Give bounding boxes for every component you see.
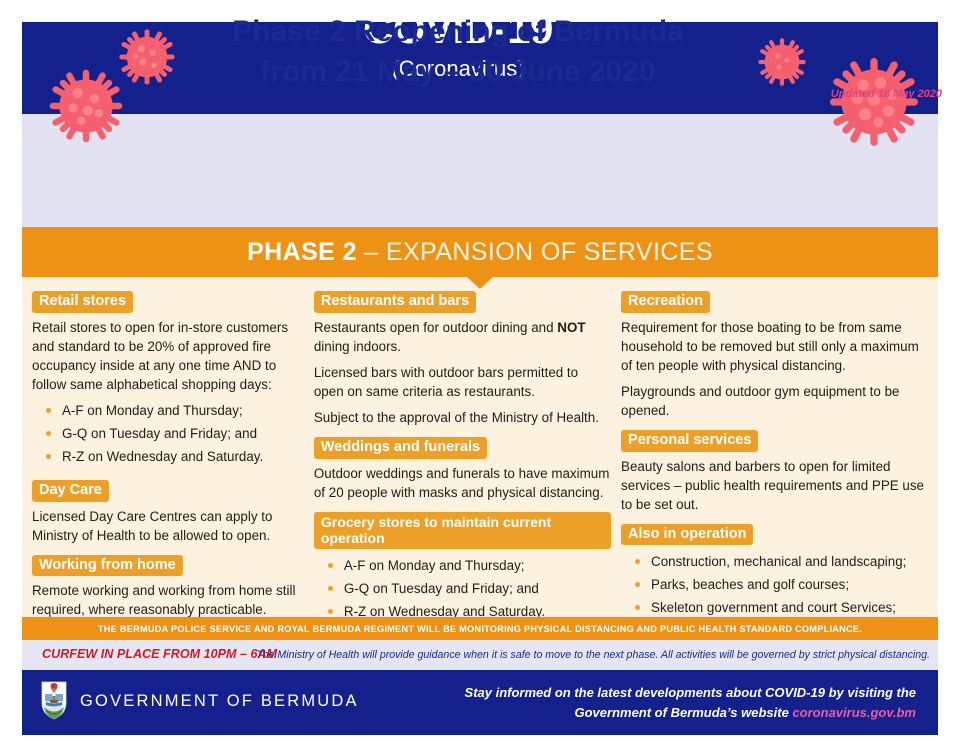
section-heading: Day Care [32,480,109,502]
government-label: GOVERNMENT OF BERMUDA [80,692,359,711]
list-item: A-F on Monday and Thursday; [328,556,611,579]
section-heading: Restaurants and bars [314,291,476,313]
coronavirus-website-link[interactable]: coronavirus.gov.bm [792,705,916,720]
section-paragraph: Licensed Day Care Centres can apply to M… [32,507,300,545]
government-footer-band: GOVERNMENT OF BERMUDA Stay informed on t… [22,670,938,735]
phase-banner-strong: PHASE 2 [247,238,357,266]
enforcement-band-text: THE BERMUDA POLICE SERVICE AND ROYAL BER… [98,624,862,634]
section-block: RecreationRequirement for those boating … [621,291,928,420]
stay-informed-line-2-text: Government of Bermuda’s website [575,705,789,720]
column-2: Restaurants and barsRestaurants open for… [314,291,621,617]
section-block: Restaurants and barsRestaurants open for… [314,291,611,427]
section-paragraph: Outdoor weddings and funerals to have ma… [314,464,611,502]
section-paragraph: Beauty salons and barbers to open for li… [621,457,928,514]
section-heading: Grocery stores to maintain current opera… [314,512,611,549]
curfew-band: CURFEW IN PLACE FROM 10PM – 6AM The Mini… [22,640,938,670]
enforcement-band: THE BERMUDA POLICE SERVICE AND ROYAL BER… [22,617,938,640]
government-logo-group: GOVERNMENT OF BERMUDA [40,681,359,721]
list-item: G-Q on Tuesday and Friday; and [46,424,300,447]
section-block: Weddings and funeralsOutdoor weddings an… [314,437,611,502]
column-1: Retail storesRetail stores to open for i… [32,291,314,617]
curfew-notice: CURFEW IN PLACE FROM 10PM – 6AM [42,647,277,661]
section-bullet-list: A-F on Monday and Thursday;G-Q on Tuesda… [314,556,611,625]
section-heading: Retail stores [32,291,133,313]
section-block: Working from homeRemote working and work… [32,555,300,620]
phase-banner-notch-icon [467,277,493,289]
section-heading: Recreation [621,291,710,313]
section-heading: Also in operation [621,524,753,546]
phase-subtitle: Phase 2 Reopening of Bermuda from 21 May… [0,12,916,92]
section-heading: Weddings and funerals [314,437,487,459]
stay-informed-line-2: Government of Bermuda’s website coronavi… [436,703,916,723]
section-paragraph: Licensed bars with outdoor bars permitte… [314,363,611,401]
section-paragraph: Requirement for those boating to be from… [621,318,928,375]
section-heading: Working from home [32,555,183,577]
phase-banner-text: PHASE 2 – EXPANSION OF SERVICES [247,238,713,267]
list-item: Construction, mechanical and landscaping… [635,552,928,575]
section-block: Retail storesRetail stores to open for i… [32,291,300,470]
column-3: RecreationRequirement for those boating … [621,291,928,617]
section-block: Day CareLicensed Day Care Centres can ap… [32,480,300,545]
stay-informed-line-1: Stay informed on the latest developments… [436,683,916,703]
section-paragraph: Subject to the approval of the Ministry … [314,408,611,427]
section-block: Personal servicesBeauty salons and barbe… [621,430,928,514]
section-paragraph: Restaurants open for outdoor dining and … [314,318,611,356]
section-heading: Personal services [621,430,758,452]
section-bullet-list: A-F on Monday and Thursday;G-Q on Tuesda… [32,401,300,470]
list-item: Parks, beaches and golf courses; [635,575,928,598]
section-paragraph: Playgrounds and outdoor gym equipment to… [621,382,928,420]
section-block: Grocery stores to maintain current opera… [314,512,611,625]
phase-banner: PHASE 2 – EXPANSION OF SERVICES [22,227,938,277]
section-paragraph: Retail stores to open for in-store custo… [32,318,300,394]
list-item: A-F on Monday and Thursday; [46,401,300,424]
header-lavender-band [22,114,938,227]
phase-banner-rest: – EXPANSION OF SERVICES [357,238,713,266]
bermuda-coat-of-arms-icon [40,681,68,721]
section-paragraph: Remote working and working from home sti… [32,581,300,619]
ministry-guidance-note: The Ministry of Health will provide guid… [256,649,930,661]
content-area: Retail storesRetail stores to open for i… [22,277,938,617]
phase-subtitle-line-2: from 21 May – 30 June 2020 [0,52,916,92]
covid19-phase2-poster: COVID-19 (Coronavirus) Phase 2 Reopening… [0,0,960,742]
list-item: G-Q on Tuesday and Friday; and [328,579,611,602]
phase-subtitle-line-1: Phase 2 Reopening of Bermuda [0,12,916,52]
list-item: R-Z on Wednesday and Saturday. [46,447,300,470]
stay-informed-message: Stay informed on the latest developments… [436,683,916,722]
updated-date: Updated 18 May 2020 [831,88,942,100]
